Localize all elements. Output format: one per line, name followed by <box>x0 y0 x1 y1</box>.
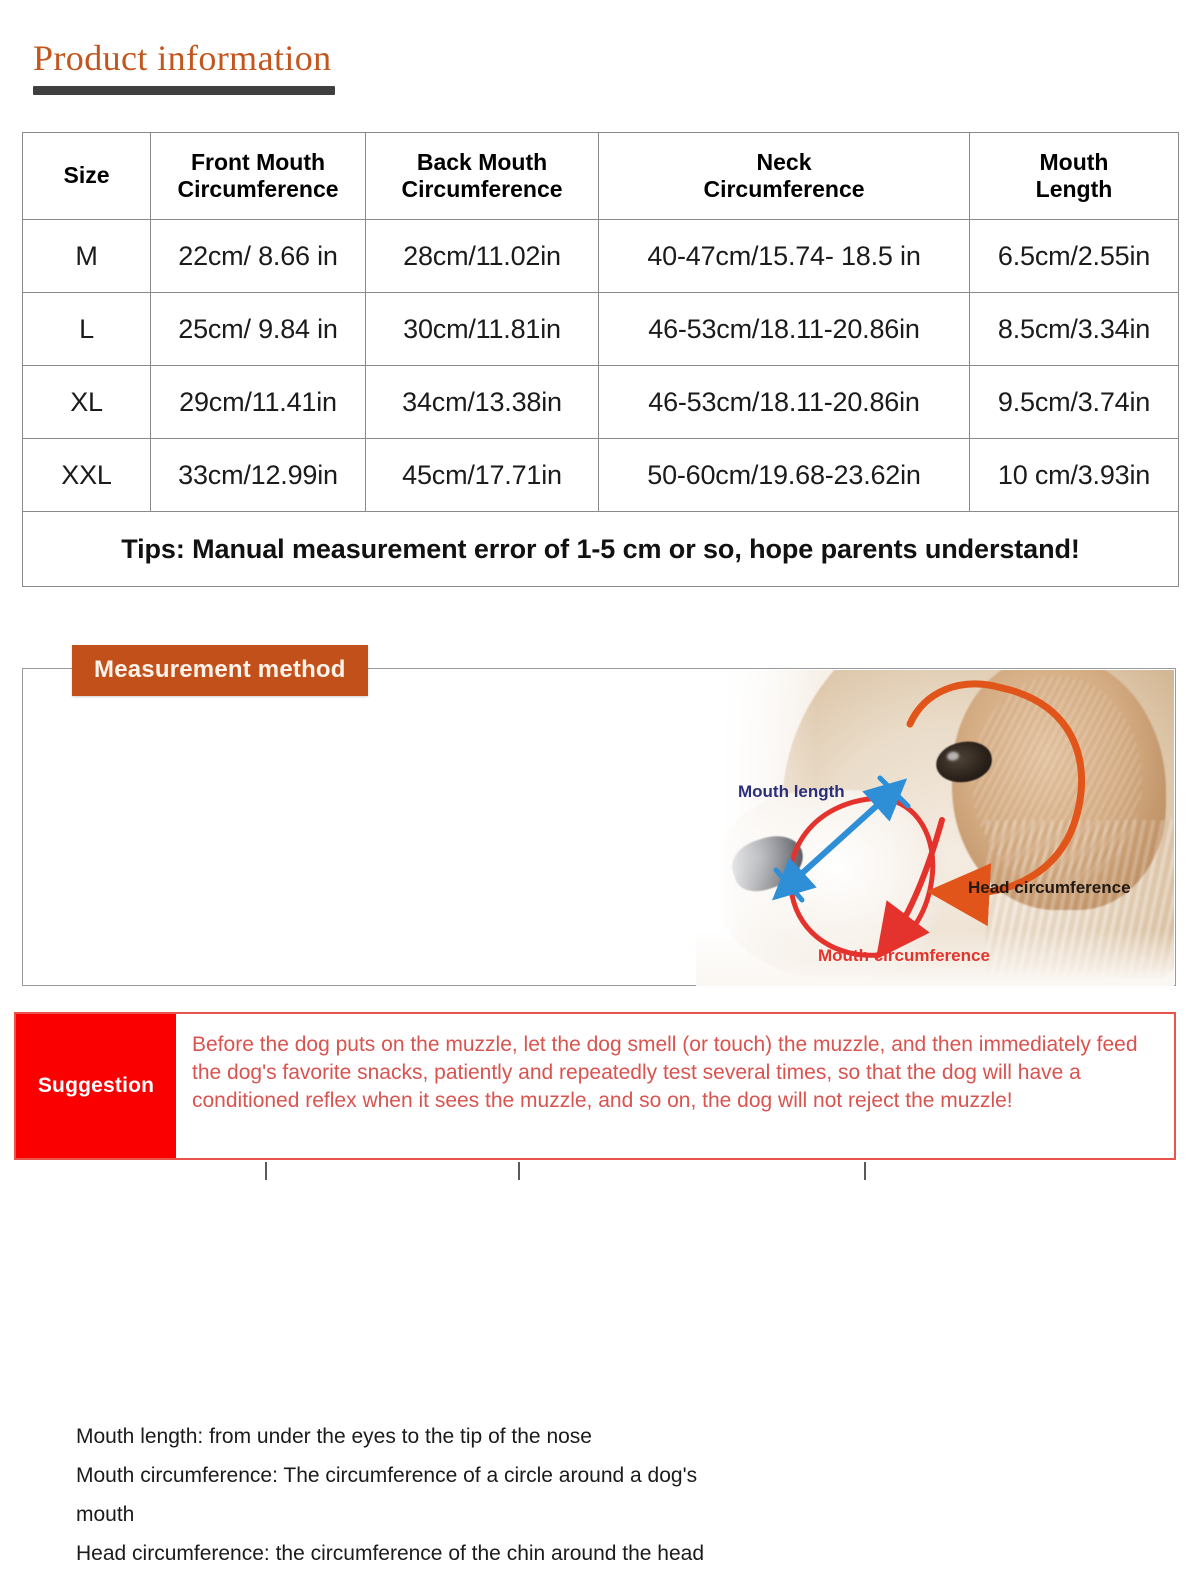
photo-annotation-vectors <box>696 670 1174 986</box>
table-row: L 25cm/ 9.84 in 30cm/11.81in 46-53cm/18.… <box>23 293 1179 366</box>
head-circumference-arc-left <box>910 684 1002 724</box>
cell-size: XXL <box>23 439 151 512</box>
bottom-tick-mark-3 <box>864 1162 866 1180</box>
cell-mouth-length: 8.5cm/3.34in <box>970 293 1179 366</box>
header-line-1: Mouth <box>970 149 1178 176</box>
suggestion-block: Suggestion Before the dog puts on the mu… <box>14 1012 1176 1160</box>
cell-back-mouth: 45cm/17.71in <box>366 439 599 512</box>
cell-neck: 46-53cm/18.11-20.86in <box>599 366 970 439</box>
cell-back-mouth: 34cm/13.38in <box>366 366 599 439</box>
cell-front-mouth: 29cm/11.41in <box>151 366 366 439</box>
header-line-1: Back Mouth <box>366 149 598 176</box>
column-header-mouth-length: Mouth Length <box>970 133 1179 220</box>
header-line-1: Size <box>23 162 150 189</box>
size-chart-table: Size Front Mouth Circumference Back Mout… <box>22 132 1179 587</box>
cell-neck: 40-47cm/15.74- 18.5 in <box>599 220 970 293</box>
header-line-2: Circumference <box>151 176 365 203</box>
measurement-line-mouth-length: Mouth length: from under the eyes to the… <box>76 1417 741 1456</box>
column-header-size: Size <box>23 133 151 220</box>
column-header-front-mouth-circumference: Front Mouth Circumference <box>151 133 366 220</box>
cell-mouth-length: 6.5cm/2.55in <box>970 220 1179 293</box>
cell-neck: 46-53cm/18.11-20.86in <box>599 293 970 366</box>
bottom-tick-mark-1 <box>265 1162 267 1180</box>
measurement-method-badge: Measurement method <box>72 645 368 696</box>
annotation-mouth-length: Mouth length <box>738 782 845 802</box>
head-circumference-arc <box>958 688 1082 893</box>
cell-size: M <box>23 220 151 293</box>
cell-size: L <box>23 293 151 366</box>
header-line-2: Length <box>970 176 1178 203</box>
cell-mouth-length: 9.5cm/3.74in <box>970 366 1179 439</box>
title-underline-bar <box>33 86 335 95</box>
cell-front-mouth: 33cm/12.99in <box>151 439 366 512</box>
mouth-circumference-arc <box>790 798 881 955</box>
header-line-2: Circumference <box>599 176 969 203</box>
measurement-line-mouth-circumference: Mouth circumference: The circumference o… <box>76 1456 741 1534</box>
table-header-row: Size Front Mouth Circumference Back Mout… <box>23 133 1179 220</box>
measurement-line-head-circumference: Head circumference: the circumference of… <box>76 1534 741 1573</box>
table-row: M 22cm/ 8.66 in 28cm/11.02in 40-47cm/15.… <box>23 220 1179 293</box>
title-block: Product information <box>33 40 353 95</box>
bottom-tick-mark-2 <box>518 1162 520 1180</box>
table-row: XL 29cm/11.41in 34cm/13.38in 46-53cm/18.… <box>23 366 1179 439</box>
page-title: Product information <box>33 40 353 78</box>
cell-neck: 50-60cm/19.68-23.62in <box>599 439 970 512</box>
dog-measurement-photo: Mouth length Head circumference Mouth ci… <box>696 670 1174 986</box>
tips-note: Tips: Manual measurement error of 1-5 cm… <box>23 512 1179 587</box>
cell-back-mouth: 30cm/11.81in <box>366 293 599 366</box>
column-header-neck-circumference: Neck Circumference <box>599 133 970 220</box>
suggestion-text: Before the dog puts on the muzzle, let t… <box>192 1031 1154 1115</box>
measurement-description: Mouth length: from under the eyes to the… <box>76 1417 741 1573</box>
header-line-1: Neck <box>599 149 969 176</box>
cell-front-mouth: 25cm/ 9.84 in <box>151 293 366 366</box>
measurement-method-panel: Mouth length Head circumference Mouth ci… <box>22 668 1176 986</box>
table-tips-row: Tips: Manual measurement error of 1-5 cm… <box>23 512 1179 587</box>
annotation-mouth-circumference: Mouth circumference <box>818 946 990 966</box>
cell-back-mouth: 28cm/11.02in <box>366 220 599 293</box>
cell-size: XL <box>23 366 151 439</box>
header-line-2: Circumference <box>366 176 598 203</box>
annotation-head-circumference: Head circumference <box>968 878 1131 898</box>
header-line-1: Front Mouth <box>151 149 365 176</box>
column-header-back-mouth-circumference: Back Mouth Circumference <box>366 133 599 220</box>
cell-mouth-length: 10 cm/3.93in <box>970 439 1179 512</box>
cell-front-mouth: 22cm/ 8.66 in <box>151 220 366 293</box>
suggestion-label: Suggestion <box>16 1014 176 1158</box>
table-row: XXL 33cm/12.99in 45cm/17.71in 50-60cm/19… <box>23 439 1179 512</box>
